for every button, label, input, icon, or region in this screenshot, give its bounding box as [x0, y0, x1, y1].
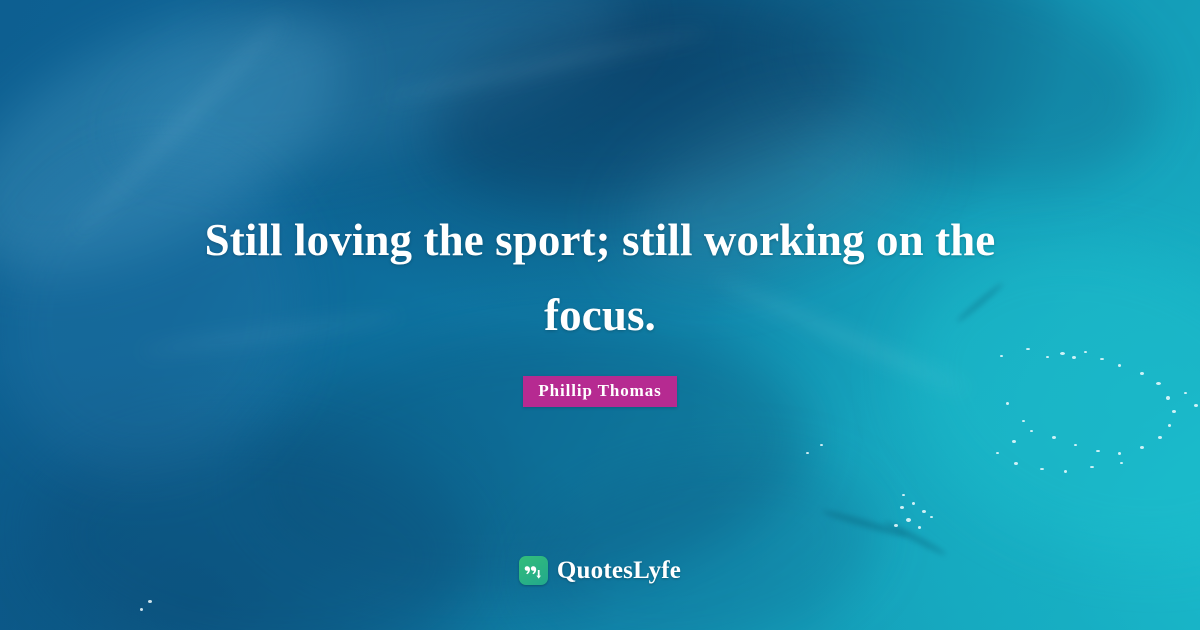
- quote-card: Still loving the sport; still working on…: [0, 0, 1200, 630]
- author-badge: Phillip Thomas: [523, 376, 676, 407]
- brand-logo[interactable]: QuotesLyfe: [0, 556, 1200, 585]
- quote-text: Still loving the sport; still working on…: [150, 203, 1050, 353]
- quote-mark-icon: [519, 556, 548, 585]
- card-content: Still loving the sport; still working on…: [0, 0, 1200, 630]
- brand-name: QuotesLyfe: [557, 557, 681, 585]
